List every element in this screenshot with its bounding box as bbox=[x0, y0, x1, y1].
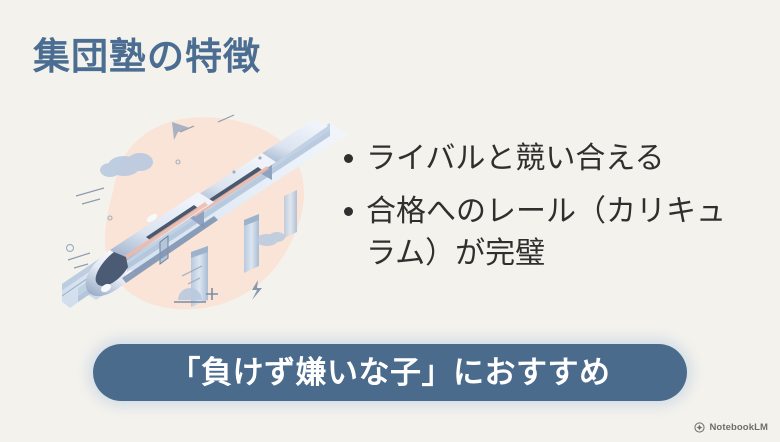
list-item: 合格へのレール（カリキュラム）が完璧 bbox=[344, 191, 754, 276]
train-illustration bbox=[62, 100, 352, 330]
page-title: 集団塾の特徴 bbox=[33, 36, 261, 79]
notebooklm-watermark-label: NotebookLM bbox=[709, 423, 768, 433]
bullet-text: 合格へのレール（カリキュラム）が完璧 bbox=[366, 191, 754, 276]
recommendation-banner: 「負けず嫌いな子」におすすめ bbox=[93, 344, 687, 401]
bullet-dot-icon bbox=[344, 154, 353, 163]
bullet-train-graphic bbox=[62, 100, 352, 330]
bullet-text: ライバルと競い合える bbox=[366, 138, 754, 181]
recommendation-banner-text: 「負けず嫌いな子」におすすめ bbox=[170, 357, 611, 388]
bullet-dot-icon bbox=[344, 207, 353, 216]
notebooklm-watermark: NotebookLM bbox=[694, 422, 768, 433]
slide-canvas: 集団塾の特徴 bbox=[0, 0, 780, 442]
feature-bullet-list: ライバルと競い合える 合格へのレール（カリキュラム）が完璧 bbox=[344, 138, 754, 286]
notebooklm-spark-icon bbox=[694, 422, 705, 433]
list-item: ライバルと競い合える bbox=[344, 138, 754, 181]
